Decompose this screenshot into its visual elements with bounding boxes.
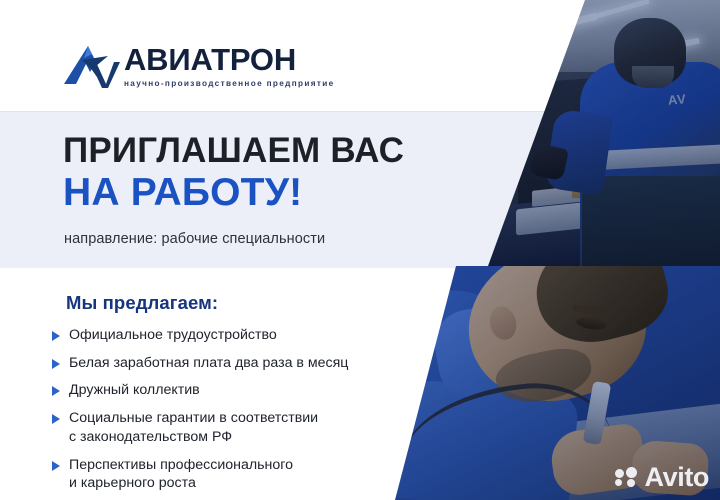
headline: ПРИГЛАШАЕМ ВАС НА РАБОТУ! — [63, 133, 404, 213]
offer-item-text: Перспективы профессиональногои карьерног… — [69, 456, 293, 493]
offer-item-text: Социальные гарантии в соответствиис зако… — [69, 409, 318, 446]
offer-list: Официальное трудоустройствоБелая заработ… — [52, 326, 422, 500]
bullet-triangle-icon — [52, 386, 60, 396]
offer-item-text: Дружный коллектив — [69, 381, 200, 400]
avito-dots-icon — [615, 467, 640, 488]
offer-list-item: Перспективы профессиональногои карьерног… — [52, 456, 422, 493]
offer-list-item: Дружный коллектив — [52, 381, 422, 400]
company-name: АВИАТРОН — [124, 44, 335, 75]
offer-item-text: Официальное трудоустройство — [69, 326, 277, 345]
headline-line-1: ПРИГЛАШАЕМ ВАС — [63, 133, 404, 170]
offer-list-item: Белая заработная плата два раза в месяц — [52, 354, 422, 373]
avito-label: Avito — [645, 464, 710, 491]
company-tagline: научно-производственное предприятие — [124, 79, 335, 88]
headline-subtitle: направление: рабочие специальности — [64, 231, 325, 247]
offer-item-text: Белая заработная плата два раза в месяц — [69, 354, 348, 373]
bullet-triangle-icon — [52, 461, 60, 471]
offer-title: Мы предлагаем: — [66, 292, 218, 314]
bullet-triangle-icon — [52, 359, 60, 369]
av-monogram-icon — [62, 44, 122, 88]
company-logo: АВИАТРОН научно-производственное предпри… — [62, 44, 335, 88]
avito-watermark: Avito — [615, 464, 710, 491]
offer-list-item: Официальное трудоустройство — [52, 326, 422, 345]
bullet-triangle-icon — [52, 331, 60, 341]
bullet-triangle-icon — [52, 414, 60, 424]
headline-line-2: НА РАБОТУ! — [63, 173, 404, 213]
offer-list-item: Социальные гарантии в соответствиис зако… — [52, 409, 422, 446]
recruitment-poster: AV АВИАТРОН научно-производственное — [0, 0, 720, 500]
logo-text-block: АВИАТРОН научно-производственное предпри… — [124, 44, 335, 88]
